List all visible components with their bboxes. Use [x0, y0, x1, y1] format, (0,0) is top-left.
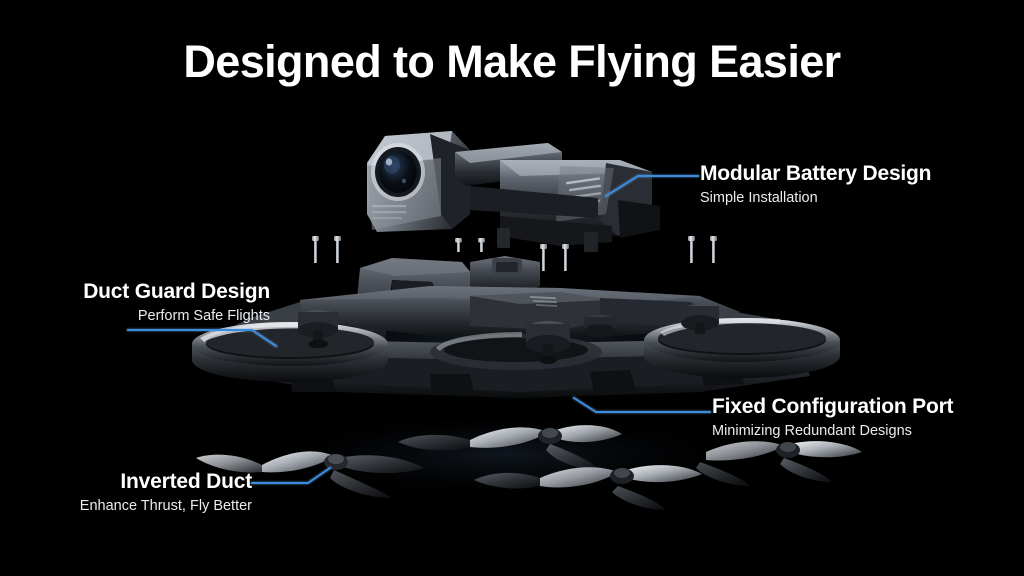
callout-title-duct-guard: Duct Guard Design: [0, 280, 270, 305]
callout-inverted-duct: Inverted Duct Enhance Thrust, Fly Better: [0, 470, 252, 515]
callout-fixed-configuration-port: Fixed Configuration Port Minimizing Redu…: [712, 395, 953, 440]
battery-module: [455, 143, 660, 252]
callout-subtitle-inverted-duct: Enhance Thrust, Fly Better: [0, 497, 252, 515]
callout-title-modular-battery: Modular Battery Design: [700, 162, 931, 187]
callout-subtitle-modular-battery: Simple Installation: [700, 189, 931, 207]
page-title: Designed to Make Flying Easier: [0, 38, 1024, 85]
callout-subtitle-duct-guard: Perform Safe Flights: [0, 307, 270, 325]
callout-duct-guard: Duct Guard Design Perform Safe Flights: [0, 280, 270, 325]
callout-subtitle-fixed-configuration-port: Minimizing Redundant Designs: [712, 422, 953, 440]
camera-module: [367, 131, 470, 232]
callout-title-fixed-configuration-port: Fixed Configuration Port: [712, 395, 953, 420]
callout-title-inverted-duct: Inverted Duct: [0, 470, 252, 495]
callout-modular-battery: Modular Battery Design Simple Installati…: [700, 162, 931, 207]
product-feature-slide: Designed to Make Flying Easier Modular B…: [0, 0, 1024, 576]
